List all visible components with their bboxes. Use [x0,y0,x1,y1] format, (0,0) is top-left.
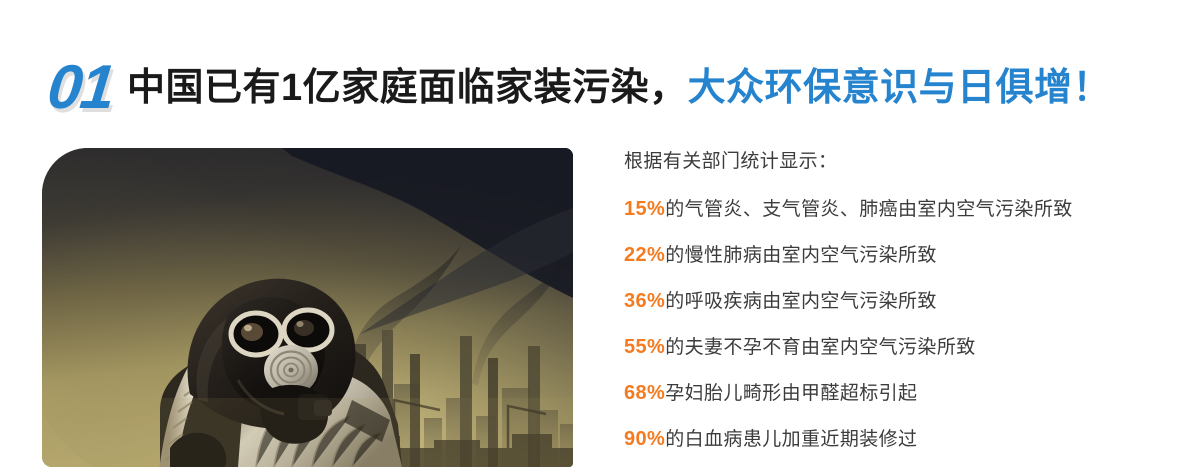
stat-percentage: 22% [624,244,665,266]
stat-item: 90%的白血病患儿加重近期装修过 [624,429,1164,449]
stat-item: 36%的呼吸疾病由室内空气污染所致 [624,291,1164,311]
stat-percentage: 68% [624,382,665,404]
stat-description: 的夫妻不孕不育由室内空气污染所致 [665,337,975,358]
headline-text: 中国已有1亿家庭面临家装污染，大众环保意识与日俱增！ [127,69,1111,107]
page-title: 01 中国已有1亿家庭面临家装污染，大众环保意识与日俱增！ [48,52,1111,124]
hero-photo [42,148,573,467]
stat-description: 的慢性肺病由室内空气污染所致 [665,245,937,266]
stat-item: 55%的夫妻不孕不育由室内空气污染所致 [624,337,1164,357]
stat-percentage: 90% [624,428,665,450]
stat-description: 孕妇胎儿畸形由甲醛超标引起 [665,383,917,404]
statistics-list: 根据有关部门统计显示： 15%的气管炎、支气管炎、肺癌由室内空气污染所致 22%… [624,152,1164,449]
stat-description: 的呼吸疾病由室内空气污染所致 [665,291,937,312]
headline-segment-dark: 中国已有1亿家庭面临家装污染， [127,67,688,109]
stat-percentage: 15% [624,198,665,220]
headline-segment-blue: 大众环保意识与日俱增！ [688,67,1112,109]
promo-banner: 01 中国已有1亿家庭面临家装污染，大众环保意识与日俱增！ [0,0,1182,467]
stat-item: 15%的气管炎、支气管炎、肺癌由室内空气污染所致 [624,199,1164,219]
stat-description: 的气管炎、支气管炎、肺癌由室内空气污染所致 [665,199,1072,220]
stat-percentage: 36% [624,290,665,312]
stat-item: 22%的慢性肺病由室内空气污染所致 [624,245,1164,265]
statistics-intro: 根据有关部门统计显示： [624,152,1164,171]
section-number: 01 [45,57,116,119]
stat-description: 的白血病患儿加重近期装修过 [665,429,917,450]
gas-mask-pollution-illustration [42,148,573,467]
stat-percentage: 55% [624,336,665,358]
stat-item: 68%孕妇胎儿畸形由甲醛超标引起 [624,383,1164,403]
